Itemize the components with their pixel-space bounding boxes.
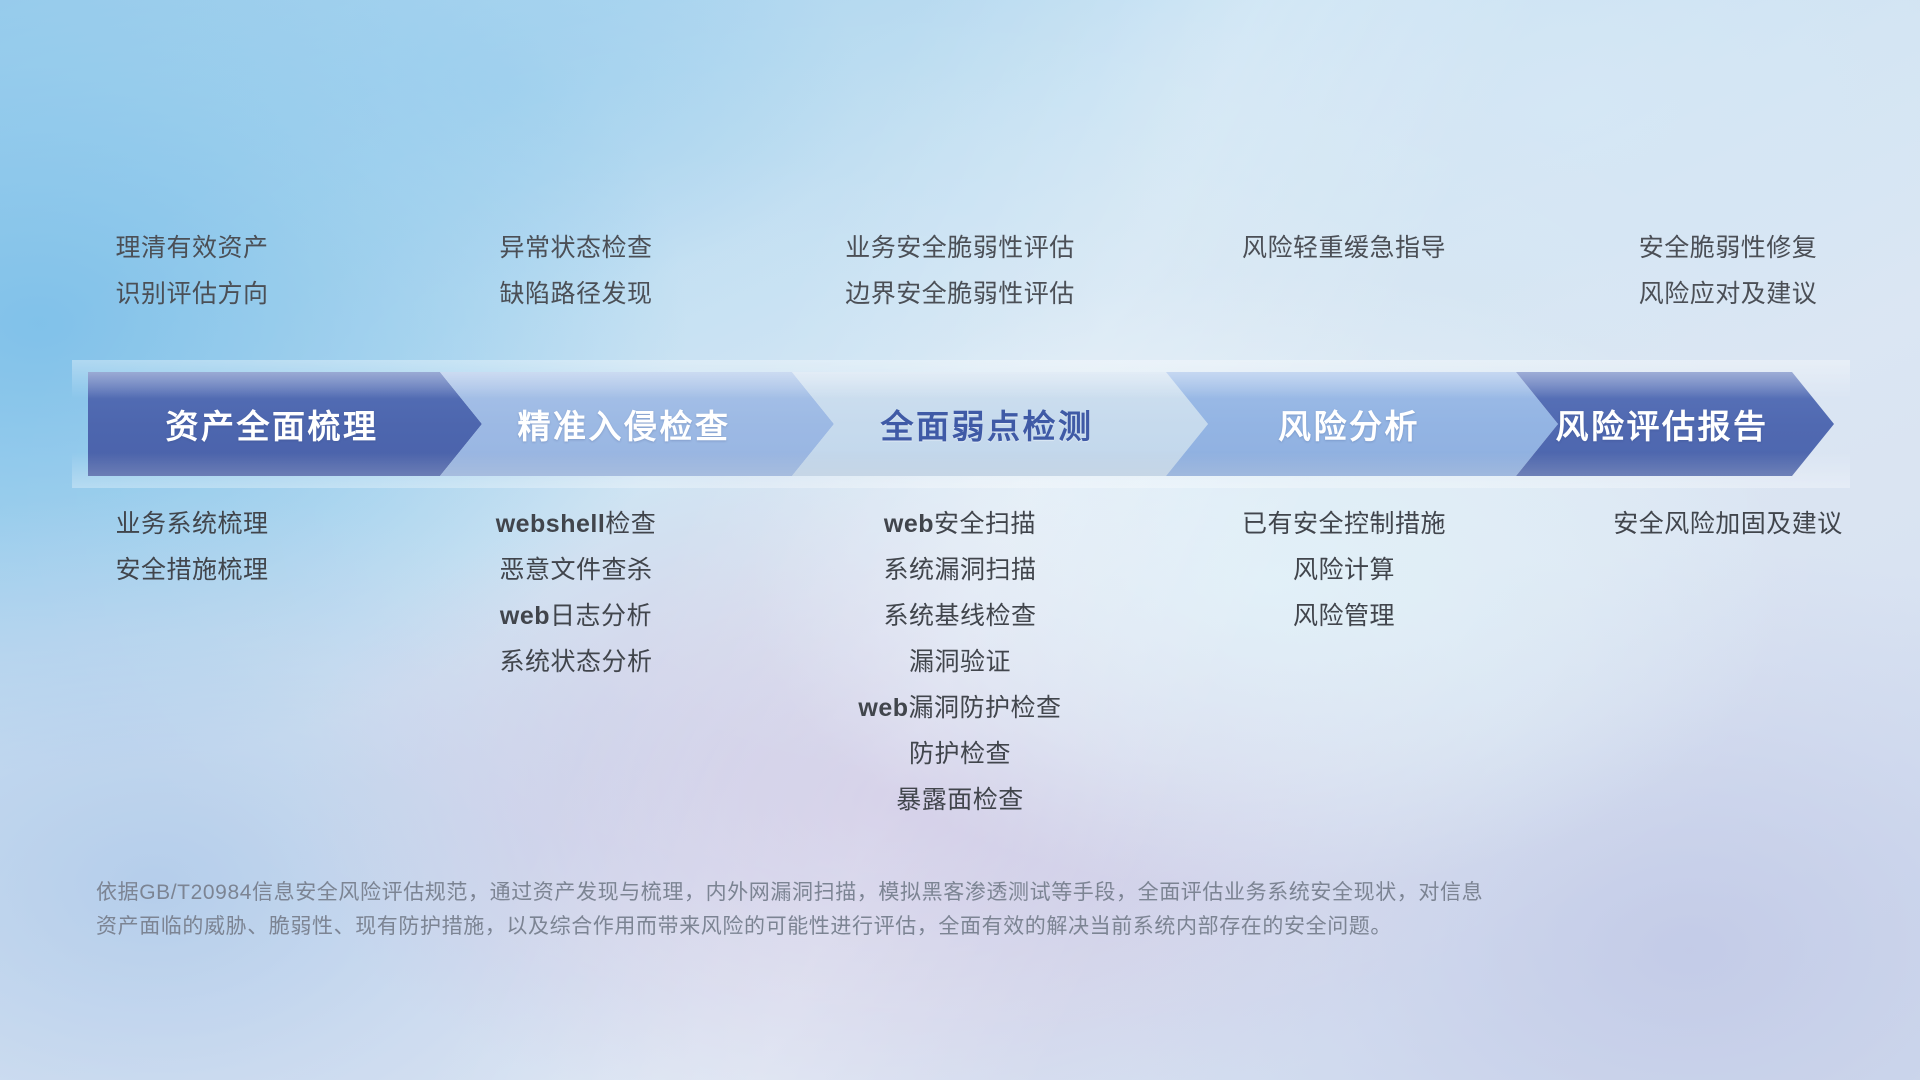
list-item-cjk: 检查 [605,510,656,538]
top-note: 业务安全脆弱性评估 [845,232,1075,264]
list-item-latin: web [500,602,550,630]
top-note: 缺陷路径发现 [499,278,652,310]
top-notes-col-3: 业务安全脆弱性评估 边界安全脆弱性评估 [768,232,1152,310]
top-note: 边界安全脆弱性评估 [845,278,1075,310]
top-notes-col-4: 风险轻重缓急指导 [1152,232,1536,310]
top-note: 安全脆弱性修复 [1639,232,1818,264]
chevron-stage-risk-analysis[interactable]: 风险分析 [1166,372,1558,476]
top-notes-col-1: 理清有效资产 识别评估方向 [0,232,384,310]
list-item: web安全扫描 [884,508,1036,540]
process-chevron-band: 资产全面梳理 精准入侵检查 全面弱点检测 风险分析 风险评估报告 [88,372,1834,476]
top-notes-col-5: 安全脆弱性修复 风险应对及建议 [1536,232,1920,310]
top-note: 异常状态检查 [499,232,652,264]
list-item: webshell检查 [496,508,657,540]
list-item: 系统状态分析 [499,646,652,678]
list-item: 系统漏洞扫描 [883,554,1036,586]
list-item: web漏洞防护检查 [858,692,1061,724]
detail-list-col-2: webshell检查 恶意文件查杀 web日志分析 系统状态分析 [384,508,768,816]
list-item-latin: webshell [496,510,606,538]
chevron-stage-risk-report[interactable]: 风险评估报告 [1516,372,1834,476]
chevron-label: 资产全面梳理 [166,400,405,448]
list-item: 漏洞验证 [909,646,1011,678]
list-item: 已有安全控制措施 [1242,508,1446,540]
top-notes-row: 理清有效资产 识别评估方向 异常状态检查 缺陷路径发现 业务安全脆弱性评估 边界… [0,232,1920,310]
list-item: 安全措施梳理 [115,554,268,586]
list-item: 恶意文件查杀 [499,554,652,586]
chevron-label: 全面弱点检测 [881,400,1120,448]
detail-list-col-5: 安全风险加固及建议 [1536,508,1920,816]
list-item-cjk: 安全扫描 [934,510,1036,538]
list-item: 系统基线检查 [883,600,1036,632]
list-item-latin: web [884,510,934,538]
stage-detail-lists: 业务系统梳理 安全措施梳理 webshell检查 恶意文件查杀 web日志分析 … [0,508,1920,816]
top-note: 识别评估方向 [115,278,268,310]
footer-line-2: 资产面临的威胁、脆弱性、现有防护措施，以及综合作用而带来风险的可能性进行评估，全… [96,910,1656,944]
chevron-stage-weakness-detection[interactable]: 全面弱点检测 [792,372,1208,476]
chevron-label: 精准入侵检查 [518,400,757,448]
list-item: 风险计算 [1293,554,1395,586]
detail-list-col-3: web安全扫描 系统漏洞扫描 系统基线检查 漏洞验证 web漏洞防护检查 防护检… [768,508,1152,816]
list-item: web日志分析 [500,600,652,632]
list-item: 防护检查 [909,738,1011,770]
top-note: 风险轻重缓急指导 [1242,232,1446,264]
slide-canvas: 理清有效资产 识别评估方向 异常状态检查 缺陷路径发现 业务安全脆弱性评估 边界… [0,0,1920,1080]
top-notes-col-2: 异常状态检查 缺陷路径发现 [384,232,768,310]
list-item: 安全风险加固及建议 [1613,508,1843,540]
footer-description: 依据GB/T20984信息安全风险评估规范，通过资产发现与梳理，内外网漏洞扫描，… [96,876,1656,944]
list-item: 业务系统梳理 [115,508,268,540]
chevron-stage-asset-inventory[interactable]: 资产全面梳理 [88,372,482,476]
chevron-label: 风险分析 [1278,400,1446,448]
list-item: 暴露面检查 [896,784,1024,816]
chevron-stage-intrusion-check[interactable]: 精准入侵检查 [440,372,834,476]
list-item-latin: web [858,694,908,722]
chevron-label: 风险评估报告 [1556,400,1795,448]
list-item-cjk: 日志分析 [550,602,652,630]
detail-list-col-4: 已有安全控制措施 风险计算 风险管理 [1152,508,1536,816]
top-note: 风险应对及建议 [1639,278,1818,310]
top-note: 理清有效资产 [115,232,268,264]
detail-list-col-1: 业务系统梳理 安全措施梳理 [0,508,384,816]
footer-line-1: 依据GB/T20984信息安全风险评估规范，通过资产发现与梳理，内外网漏洞扫描，… [96,876,1656,910]
list-item: 风险管理 [1293,600,1395,632]
list-item-cjk: 漏洞防护检查 [909,694,1062,722]
